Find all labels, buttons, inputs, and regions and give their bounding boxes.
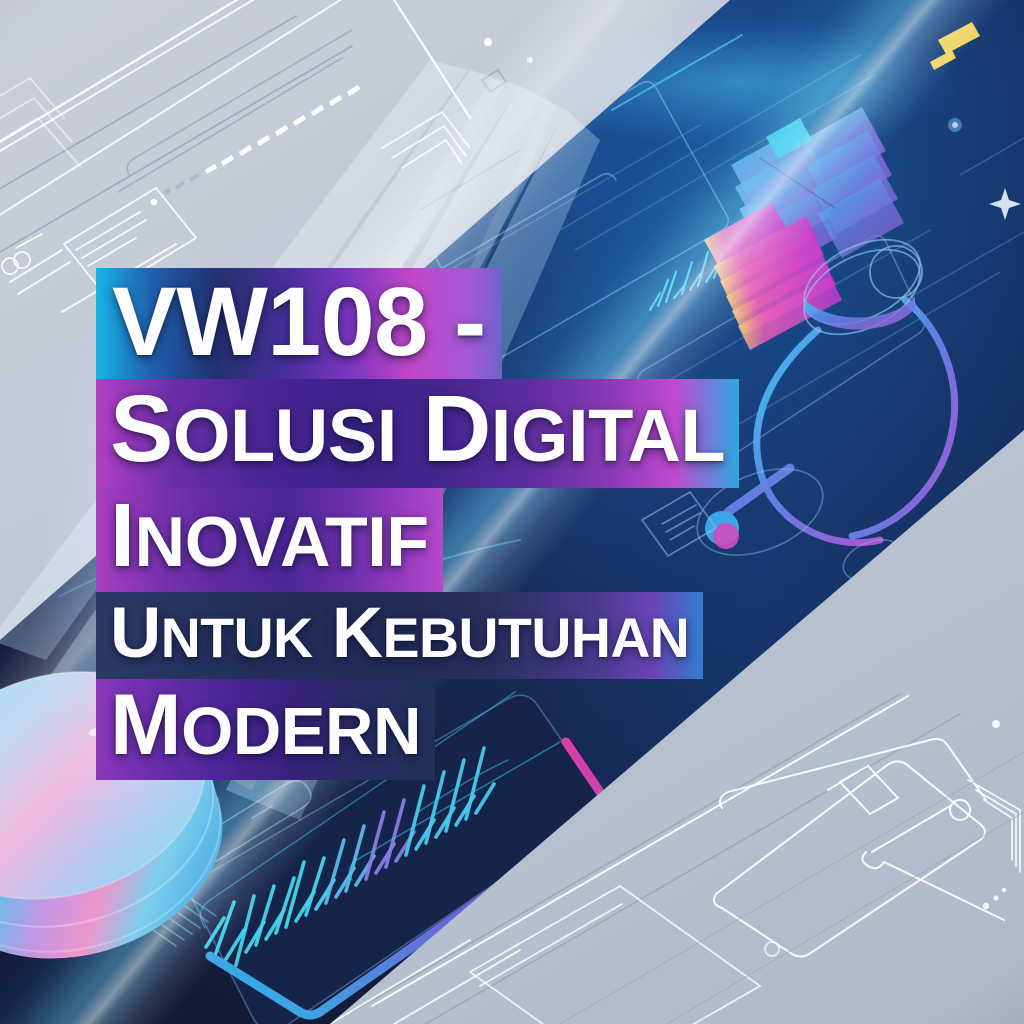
headline-l4-rest-ntuk: NTUK	[161, 607, 313, 669]
headline-row-5: MODERN	[96, 679, 936, 779]
headline-row-1: VW108 -	[96, 268, 936, 379]
headline-row-3: INOVATIF	[96, 488, 936, 592]
headline-l3-cap-i: I	[110, 486, 135, 586]
headline-line-2: SOLUSI DIGITAL	[96, 379, 739, 488]
headline-l4-rest-ebutuhan: EBUTUHAN	[383, 607, 690, 669]
headline-l2-cap-s: S	[110, 376, 173, 482]
headline-l5-cap-m: M	[110, 677, 181, 773]
headline-line-5: MODERN	[96, 679, 435, 779]
headline-l5-rest-odern: ODERN	[181, 694, 421, 769]
headline-l3-rest-novatif: NOVATIF	[135, 502, 429, 581]
headline-l4-cap-k: K	[332, 594, 383, 673]
headline-row-4: UNTUK KEBUTUHAN	[96, 592, 936, 679]
headline-l4-cap-u: U	[110, 594, 161, 673]
headline-line-1-text: VW108 -	[112, 267, 486, 376]
headline-line-1: VW108 -	[96, 268, 502, 379]
headline-block: VW108 - SOLUSI DIGITAL INOVATIF UNTUK KE…	[96, 268, 936, 780]
headline-l2-rest-olusi: OLUSI	[173, 394, 397, 477]
poster-canvas: VW108 - SOLUSI DIGITAL INOVATIF UNTUK KE…	[0, 0, 1024, 1024]
headline-l2-rest-igital: IGITAL	[491, 394, 725, 477]
headline-row-2: SOLUSI DIGITAL	[96, 379, 936, 488]
headline-line-4: UNTUK KEBUTUHAN	[96, 592, 703, 679]
headline-l2-cap-d: D	[423, 376, 491, 482]
headline-line-3: INOVATIF	[96, 488, 443, 592]
